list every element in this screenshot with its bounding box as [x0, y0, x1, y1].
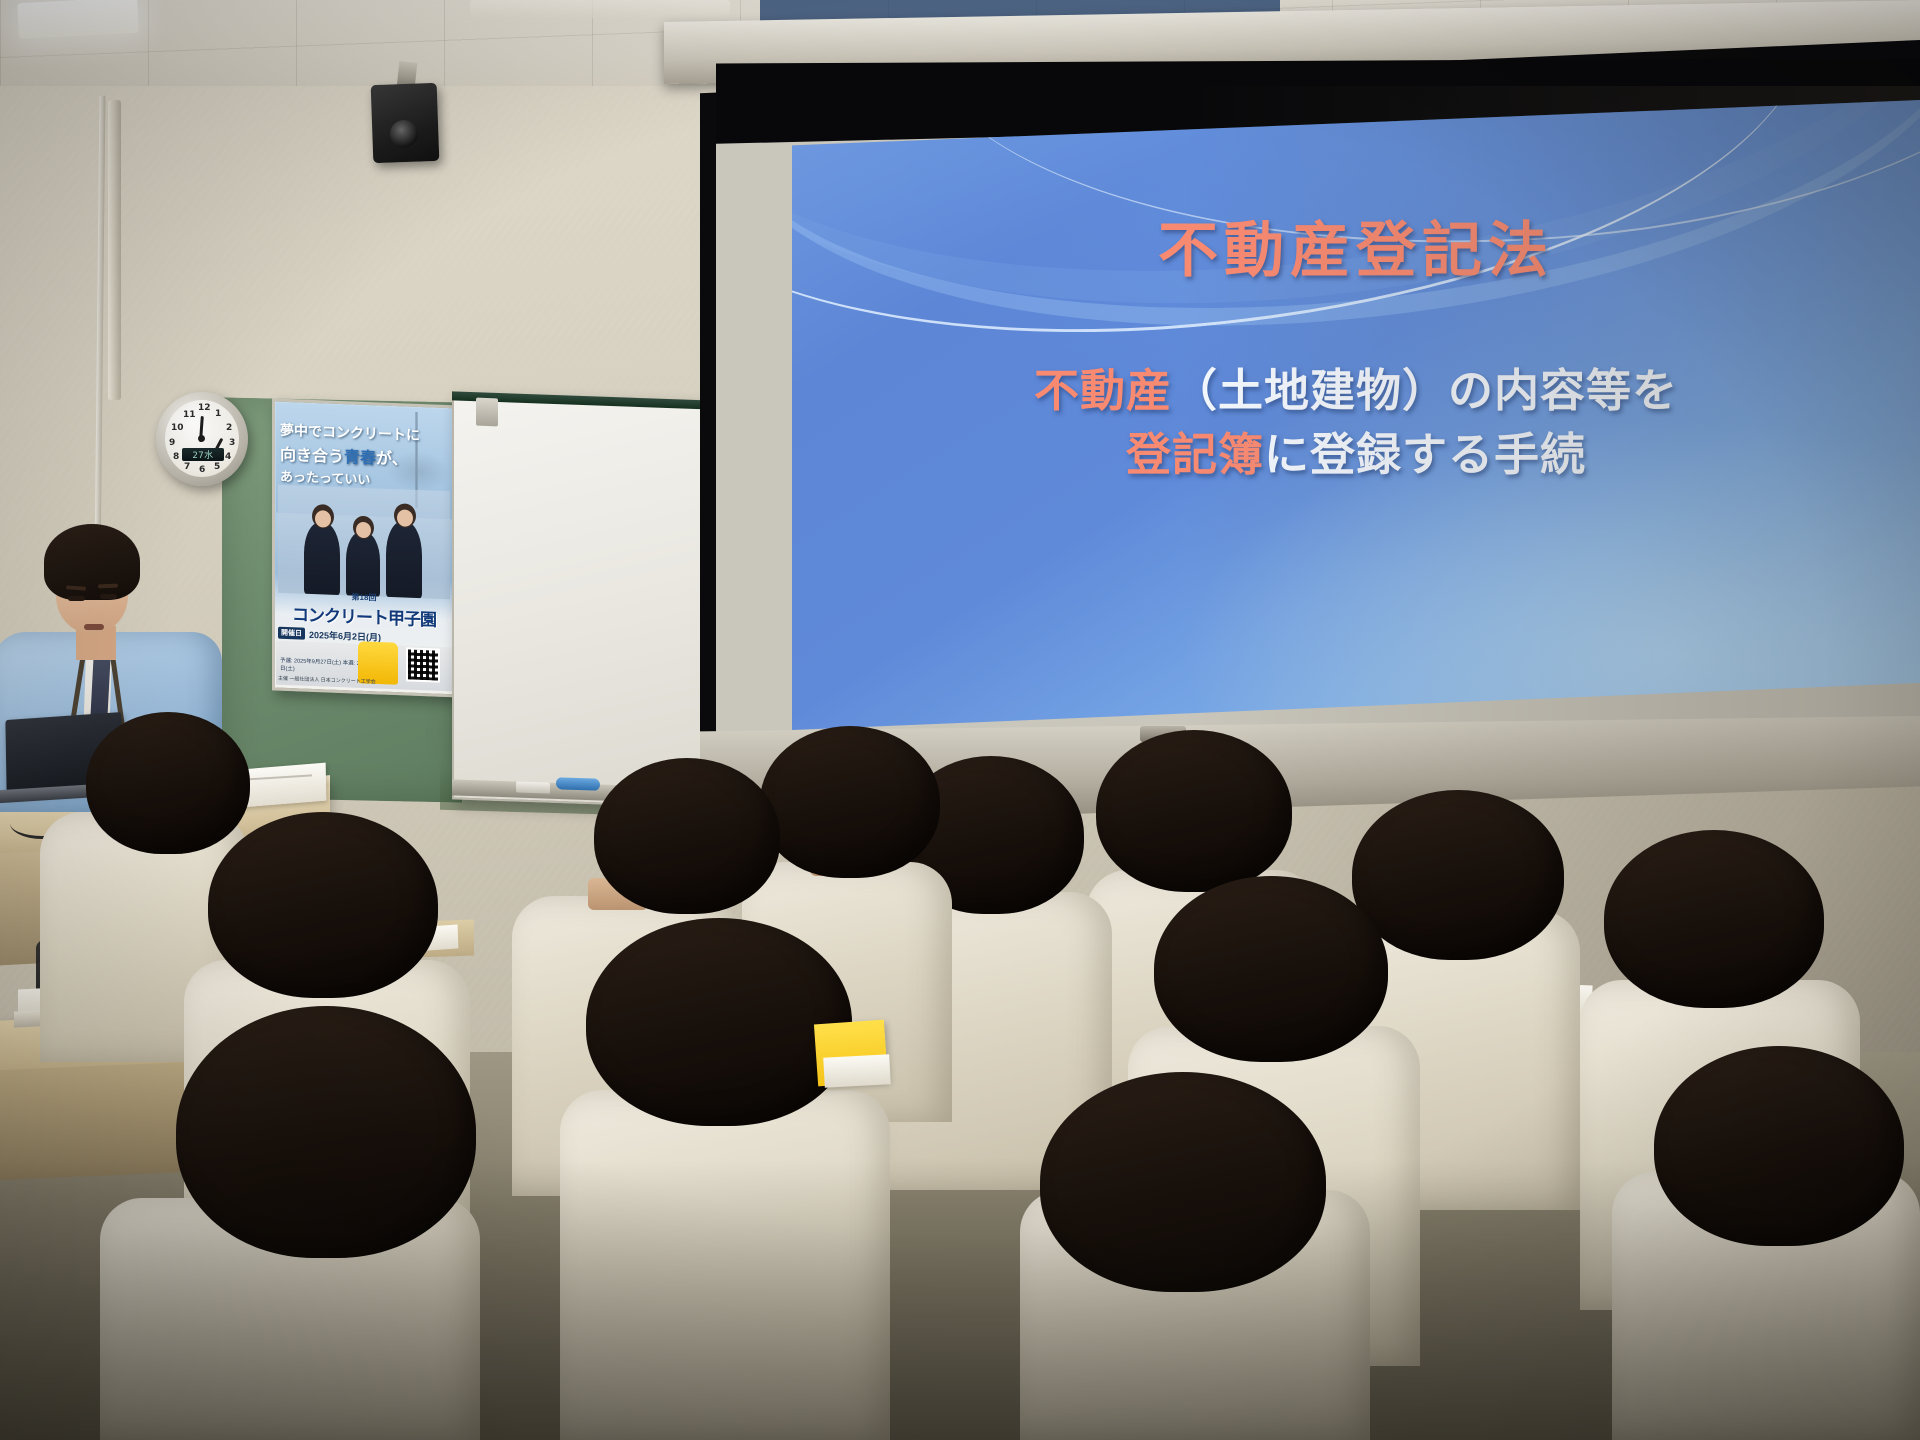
student-head — [1604, 830, 1824, 1008]
student-head — [760, 726, 940, 878]
clock-date-text: 27水 — [192, 448, 213, 461]
poster-person — [346, 531, 380, 596]
student-head — [1096, 730, 1292, 892]
clock-date-display: 27水 — [182, 448, 224, 461]
poster-headline-line2-a: 向き合う — [280, 444, 344, 465]
clock-numeral: 9 — [169, 438, 175, 448]
ceiling-light-fixture-secondary — [470, 0, 730, 18]
clock-numeral: 2 — [226, 423, 232, 433]
student-head — [1352, 790, 1564, 960]
whiteboard-marker — [556, 777, 600, 791]
clock-numeral: 12 — [198, 403, 211, 413]
poster-headline-line2-b: 青春 — [344, 447, 376, 467]
clock-numeral: 4 — [225, 452, 231, 462]
poster-date-tag: 開催日 — [278, 627, 305, 640]
poster-headline: 夢中でコンクリートに 向き合う青春が、 あったっていい — [280, 415, 448, 495]
clock-numeral: 8 — [173, 452, 179, 462]
student-head — [594, 758, 780, 914]
poster-students-photo — [278, 485, 450, 600]
poster-person — [304, 522, 340, 595]
clock-center-pin — [198, 435, 205, 442]
whiteboard-clip — [476, 398, 498, 427]
presenter-hair — [44, 524, 140, 600]
clock-numeral: 10 — [171, 423, 184, 433]
poster-person — [386, 521, 422, 598]
student-head — [1154, 876, 1388, 1062]
presenter-eye-right — [100, 594, 117, 599]
ceiling-light-fixture — [17, 0, 139, 39]
slide-body-line1-highlight: 不動産 — [1034, 364, 1172, 417]
whiteboard-eraser — [516, 781, 550, 793]
presenter-eye-left — [68, 596, 85, 601]
poster-person-face — [397, 509, 413, 527]
clock-numeral: 11 — [183, 410, 196, 420]
wall-pipe — [108, 100, 121, 400]
student-head — [586, 918, 852, 1126]
clock-numeral: 7 — [184, 462, 190, 472]
desk-handout — [823, 1054, 890, 1087]
presenter-mouth — [84, 624, 104, 630]
speaker-cone-icon — [390, 120, 418, 148]
poster-headline-line2-c: が、 — [376, 448, 408, 468]
clock-numeral: 1 — [215, 409, 221, 419]
classroom-scene: 12 1 2 3 4 5 6 7 8 9 10 11 27水 夢中でコンクリート… — [0, 0, 1920, 1440]
poster-person-face — [315, 510, 331, 528]
poster-person-face — [356, 522, 371, 539]
student-head — [208, 812, 438, 998]
clock-numeral: 3 — [229, 438, 235, 448]
clock-numeral: 6 — [199, 465, 205, 475]
student-head — [86, 712, 250, 854]
floor-shadow — [0, 1160, 1920, 1440]
clock-numeral: 5 — [214, 462, 220, 472]
whiteboard — [452, 391, 718, 808]
